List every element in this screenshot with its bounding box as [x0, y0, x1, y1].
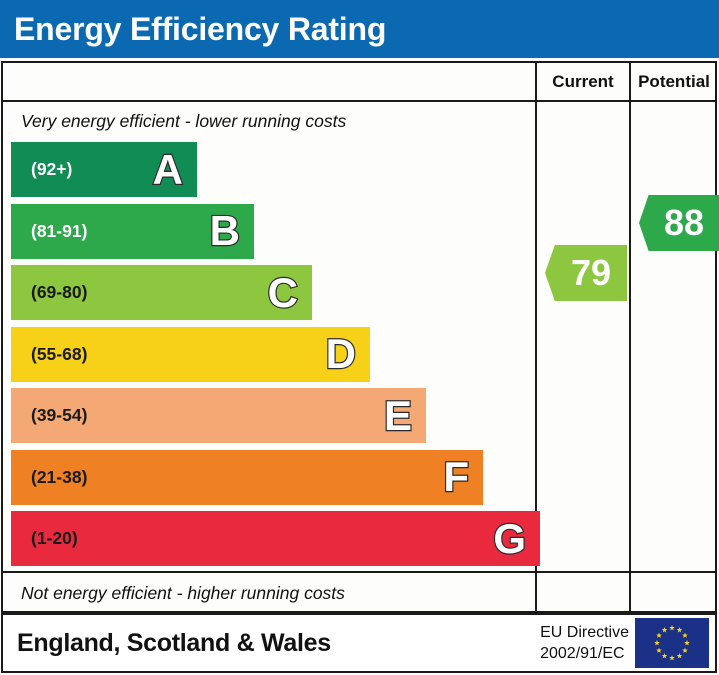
band-letter-a: A [153, 149, 183, 191]
footer-region-label: England, Scotland & Wales [3, 629, 331, 658]
band-row: (1-20)G [3, 509, 535, 571]
band-row: (55-68)D [3, 325, 535, 387]
band-range-label: (1-20) [11, 528, 78, 549]
potential-rating-value: 88 [654, 205, 704, 241]
eu-directive-line2: 2002/91/EC [540, 643, 629, 664]
eu-directive-text: EU Directive 2002/91/EC [540, 622, 629, 664]
column-divider-potential [629, 63, 631, 611]
band-range-label: (21-38) [11, 467, 87, 488]
title-bar: Energy Efficiency Rating [0, 0, 719, 58]
band-bar-g: (1-20)G [11, 511, 540, 566]
band-letter-d: D [326, 333, 356, 375]
band-row: (69-80)C [3, 263, 535, 325]
page-title: Energy Efficiency Rating [0, 13, 386, 45]
eu-directive-line1: EU Directive [540, 622, 629, 643]
band-row: (92+)A [3, 140, 535, 202]
current-rating-value: 79 [561, 255, 611, 291]
column-header-potential: Potential [631, 63, 717, 100]
band-bar-b: (81-91)B [11, 204, 254, 259]
band-list: (92+)A(81-91)B(69-80)C(55-68)D(39-54)E(2… [3, 140, 535, 571]
band-range-label: (55-68) [11, 344, 87, 365]
band-range-label: (39-54) [11, 405, 87, 426]
rating-chart: Current Potential Very energy efficient … [1, 61, 717, 613]
band-bar-a: (92+)A [11, 142, 197, 197]
band-row: (81-91)B [3, 202, 535, 264]
band-range-label: (69-80) [11, 282, 87, 303]
current-rating-arrow: 79 [545, 245, 627, 301]
footer-bar: England, Scotland & Wales EU Directive 2… [1, 613, 717, 673]
band-bar-c: (69-80)C [11, 265, 312, 320]
band-bar-e: (39-54)E [11, 388, 426, 443]
band-range-label: (92+) [11, 159, 72, 180]
band-bar-d: (55-68)D [11, 327, 370, 382]
column-header-row: Current Potential [3, 63, 715, 102]
eu-flag-icon [635, 618, 709, 668]
band-letter-b: B [210, 210, 240, 252]
band-row: (21-38)F [3, 448, 535, 510]
caption-not-efficient: Not energy efficient - higher running co… [3, 573, 535, 613]
band-row: (39-54)E [3, 386, 535, 448]
column-header-current: Current [537, 63, 629, 100]
band-letter-g: G [493, 518, 526, 560]
band-letter-e: E [384, 395, 412, 437]
energy-efficiency-certificate: Energy Efficiency Rating Current Potenti… [0, 0, 719, 675]
band-bar-f: (21-38)F [11, 450, 483, 505]
band-letter-f: F [443, 456, 469, 498]
band-range-label: (81-91) [11, 221, 87, 242]
potential-rating-arrow: 88 [639, 195, 719, 251]
band-letter-c: C [268, 272, 298, 314]
caption-very-efficient: Very energy efficient - lower running co… [3, 102, 535, 140]
